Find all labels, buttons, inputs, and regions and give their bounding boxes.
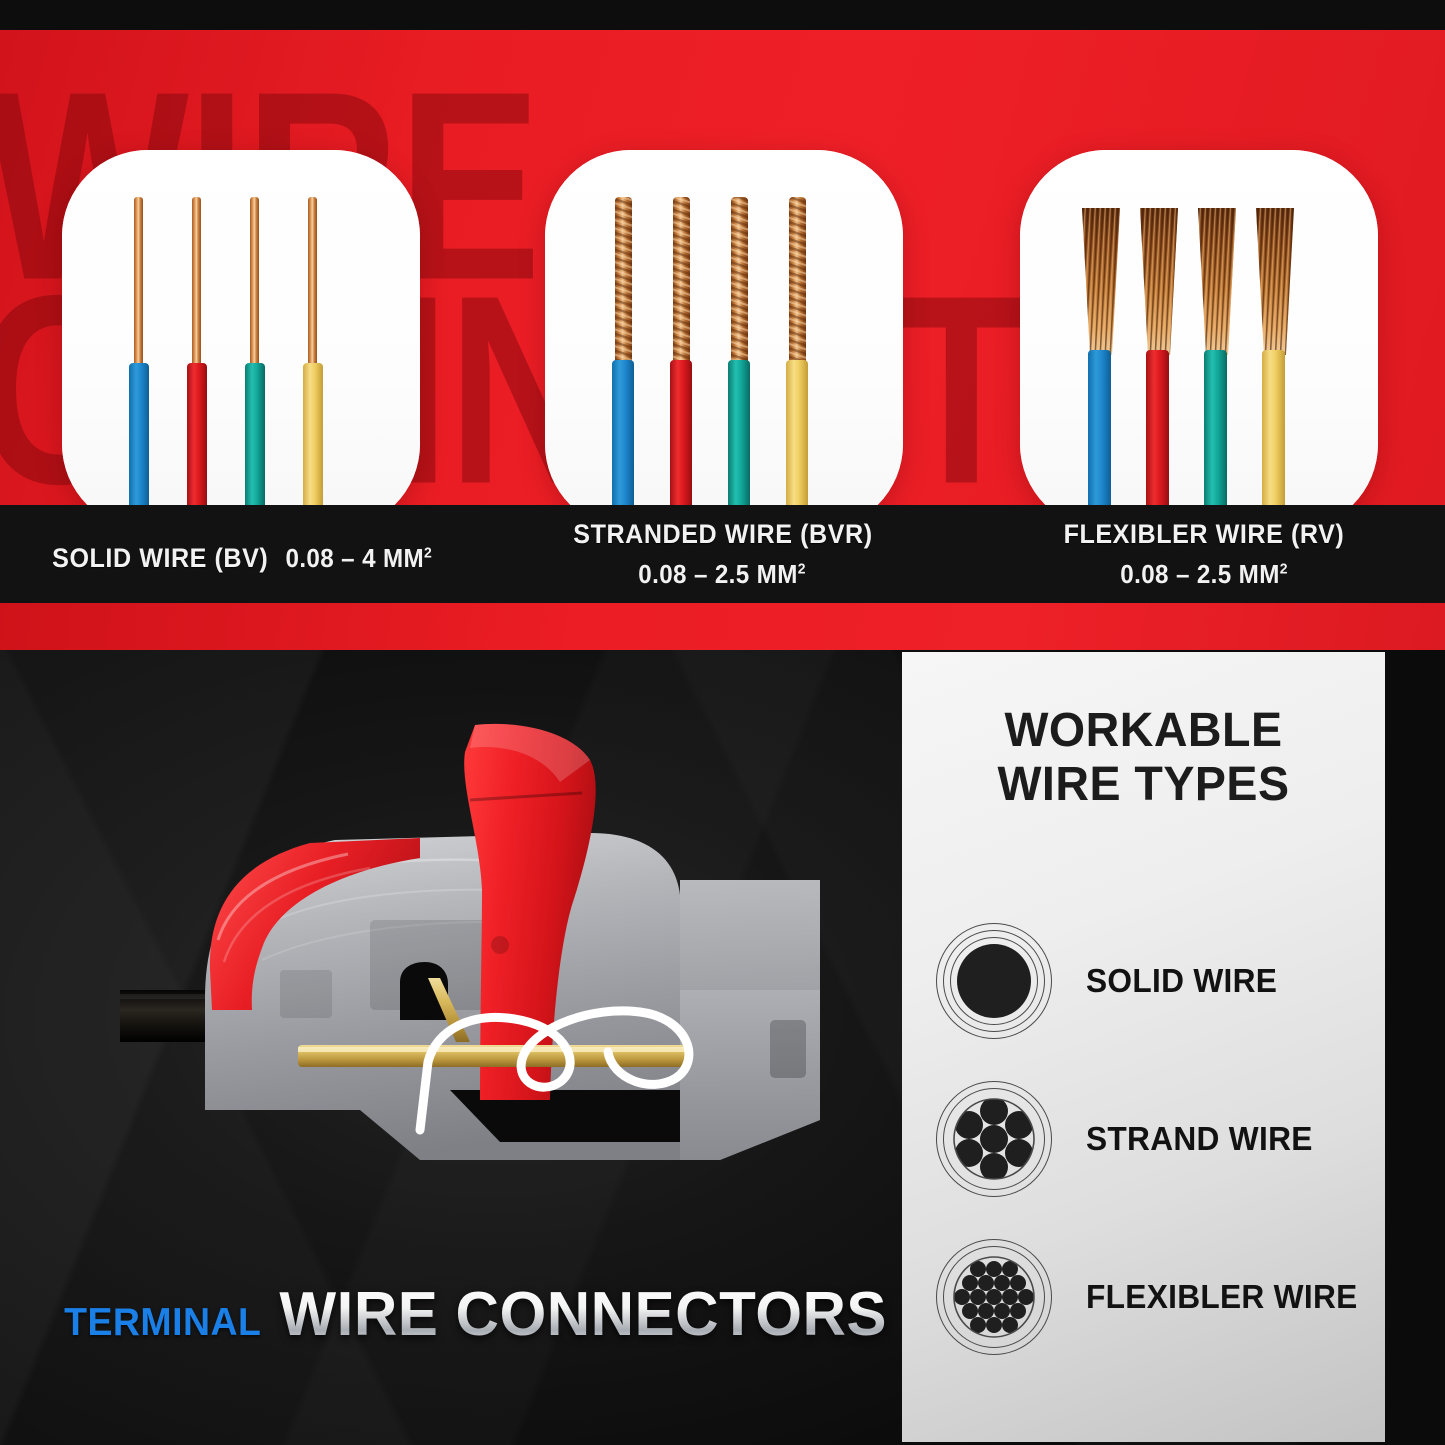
spec-range-stranded: 0.08 – 2.5 MM2 [639,559,807,590]
spec-cell-solid: SOLID WIRE (BV) 0.08 – 4 MM2 [0,534,482,574]
panel-title: WORKABLE WIRE TYPES [902,704,1385,812]
solid-wire-cross-section-icon [936,923,1052,1039]
workable-wire-types-panel: WORKABLE WIRE TYPES SOLID WIRE [902,652,1385,1442]
spec-title-solid: SOLID WIRE (BV) [52,543,268,574]
flexibler-wire-photo [1020,150,1378,505]
spec-range-solid: 0.08 – 4 MM2 [286,543,433,574]
wire-card-solid [62,150,420,505]
top-black-strip [0,0,1445,30]
wire-type-item-strand: STRAND WIRE [902,1060,1385,1218]
stranded-wire-photo [545,150,903,505]
stranded-wire-illustration [545,150,903,505]
wire-spec-band: SOLID WIRE (BV) 0.08 – 4 MM2 STRANDED WI… [0,505,1445,603]
spec-range-stranded-unit: 2 [798,560,806,577]
spec-range-stranded-value: 0.08 – 2.5 MM [639,559,798,589]
lever-wire-connector-cutaway [120,690,900,1190]
solid-wire-illustration [62,150,420,505]
spec-range-flexibler-value: 0.08 – 2.5 MM [1120,559,1279,589]
panel-title-line-2: WIRE TYPES [909,758,1378,812]
watermark-line-2-continuation: CONNECTO [0,603,1186,608]
wire-type-list: SOLID WIRE [902,902,1385,1376]
strand-dots [936,1081,1052,1197]
spec-range-solid-unit: 2 [424,544,432,561]
wire-type-label-strand: STRAND WIRE [1086,1120,1313,1158]
brand-eyebrow: TERMINAL [64,1301,261,1345]
connector-cutaway-svg [120,690,900,1190]
strand-wire-cross-section-icon [936,1081,1052,1197]
flexibler-wire-illustration [1020,150,1378,505]
spec-range-solid-value: 0.08 – 4 MM [286,543,424,573]
product-infographic-poster: WIRE CONNECTO [0,0,1445,1445]
spec-range-flexibler-unit: 2 [1280,560,1288,577]
flexibler-wire-cross-section-icon [936,1239,1052,1355]
panel-title-line-1: WORKABLE [909,704,1378,758]
spec-title-stranded: STRANDED WIRE (BVR) [573,519,872,550]
wire-type-item-solid: SOLID WIRE [902,902,1385,1060]
red-hero-section: WIRE CONNECTO [0,30,1445,505]
wire-type-label-solid: SOLID WIRE [1086,962,1277,1000]
brand-lockup: TERMINAL WIRE CONNECTORS [60,1273,896,1350]
wire-type-item-flexibler: FLEXIBLER WIRE [902,1218,1385,1376]
brand-name: WIRE CONNECTORS [279,1279,887,1350]
spec-cell-stranded: STRANDED WIRE (BVR) 0.08 – 2.5 MM2 [482,519,964,590]
flexibler-dots [936,1239,1052,1355]
solid-wire-photo [62,150,420,505]
red-divider-band: CONNECTO [0,603,1445,650]
spec-title-flexibler: FLEXIBLER WIRE (RV) [1064,519,1345,550]
spec-range-flexibler: 0.08 – 2.5 MM2 [1120,559,1288,590]
spec-cell-flexibler: FLEXIBLER WIRE (RV) 0.08 – 2.5 MM2 [963,519,1445,590]
wire-type-label-flexibler: FLEXIBLER WIRE [1086,1278,1358,1316]
wire-card-stranded [545,150,903,505]
solid-core-dot [957,944,1031,1018]
wire-card-flexibler [1020,150,1378,505]
